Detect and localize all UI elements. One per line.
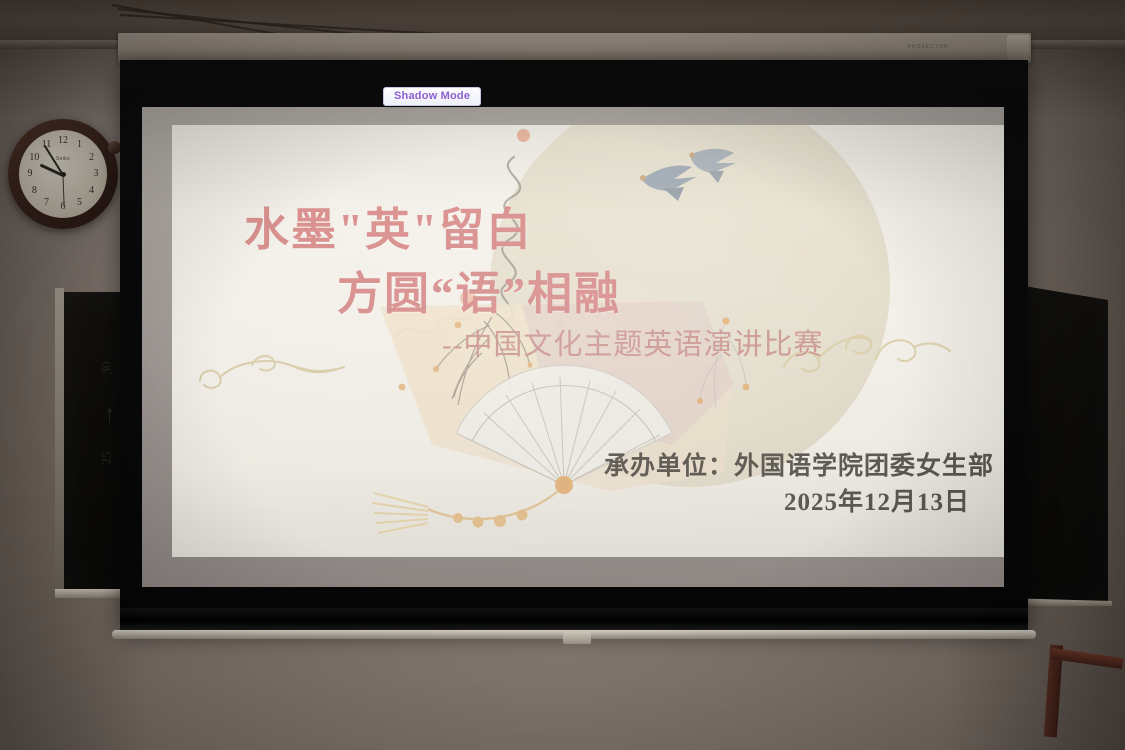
housing-end-cap — [1007, 35, 1029, 61]
housing-label: PROJECTOR — [907, 44, 949, 50]
blackboard-left-frame — [55, 288, 64, 600]
slide-title-line-2: 方圆“语”相融 — [337, 257, 621, 322]
clock-second-hand — [63, 174, 65, 206]
screen-pull-tab[interactable] — [563, 632, 591, 644]
chalk-mark-top: 30 — [99, 362, 115, 375]
clock-numeral-9: 9 — [23, 168, 37, 180]
chalk-mark-bottom: 25 — [99, 452, 115, 465]
clock-numeral-10: 10 — [27, 152, 41, 164]
projector-screen-housing: PROJECTOR — [118, 33, 1031, 63]
screen-projection-surface: 水墨"英"留白 方圆“语”相融 --中国文化主题英语演讲比赛 承办单位：外国语学… — [142, 107, 1004, 587]
clock-numeral-7: 7 — [40, 197, 54, 209]
chalk-arrow-icon: → — [94, 404, 121, 428]
shadow-mode-badge: Shadow Mode — [383, 87, 481, 106]
projector-screen: 水墨"英"留白 方圆“语”相融 --中国文化主题英语演讲比赛 承办单位：外国语学… — [120, 60, 1028, 630]
clock-face: Seiko 121234567891011 — [19, 130, 107, 218]
clock-numeral-3: 3 — [89, 168, 103, 180]
slide-text-block: 水墨"英"留白 方圆“语”相融 --中国文化主题英语演讲比赛 承办单位：外国语学… — [172, 125, 1004, 557]
chair — [1021, 645, 1117, 750]
clock-numeral-4: 4 — [85, 185, 99, 197]
slide-organizer: 承办单位：外国语学院团委女生部 — [604, 446, 994, 482]
slide-date: 2025年12月13日 — [784, 482, 970, 518]
slide-title-line-1: 水墨"英"留白 — [244, 193, 533, 258]
classroom-scene: PROJECTOR Seiko 121234567891011 30 → 25 — [0, 0, 1125, 750]
clock-numeral-5: 5 — [73, 197, 87, 209]
screen-bottom-bar — [120, 608, 1028, 630]
clock-numeral-1: 1 — [73, 139, 87, 151]
wall-clock: Seiko 121234567891011 — [8, 119, 118, 229]
clock-brand-label: Seiko — [56, 156, 70, 162]
slide-subtitle: --中国文化主题英语演讲比赛 — [442, 321, 823, 363]
clock-numeral-12: 12 — [56, 135, 70, 147]
clock-center-pin — [61, 172, 66, 177]
clock-numeral-2: 2 — [85, 152, 99, 164]
clock-numeral-8: 8 — [27, 185, 41, 197]
presentation-slide: 水墨"英"留白 方圆“语”相融 --中国文化主题英语演讲比赛 承办单位：外国语学… — [172, 125, 1004, 557]
